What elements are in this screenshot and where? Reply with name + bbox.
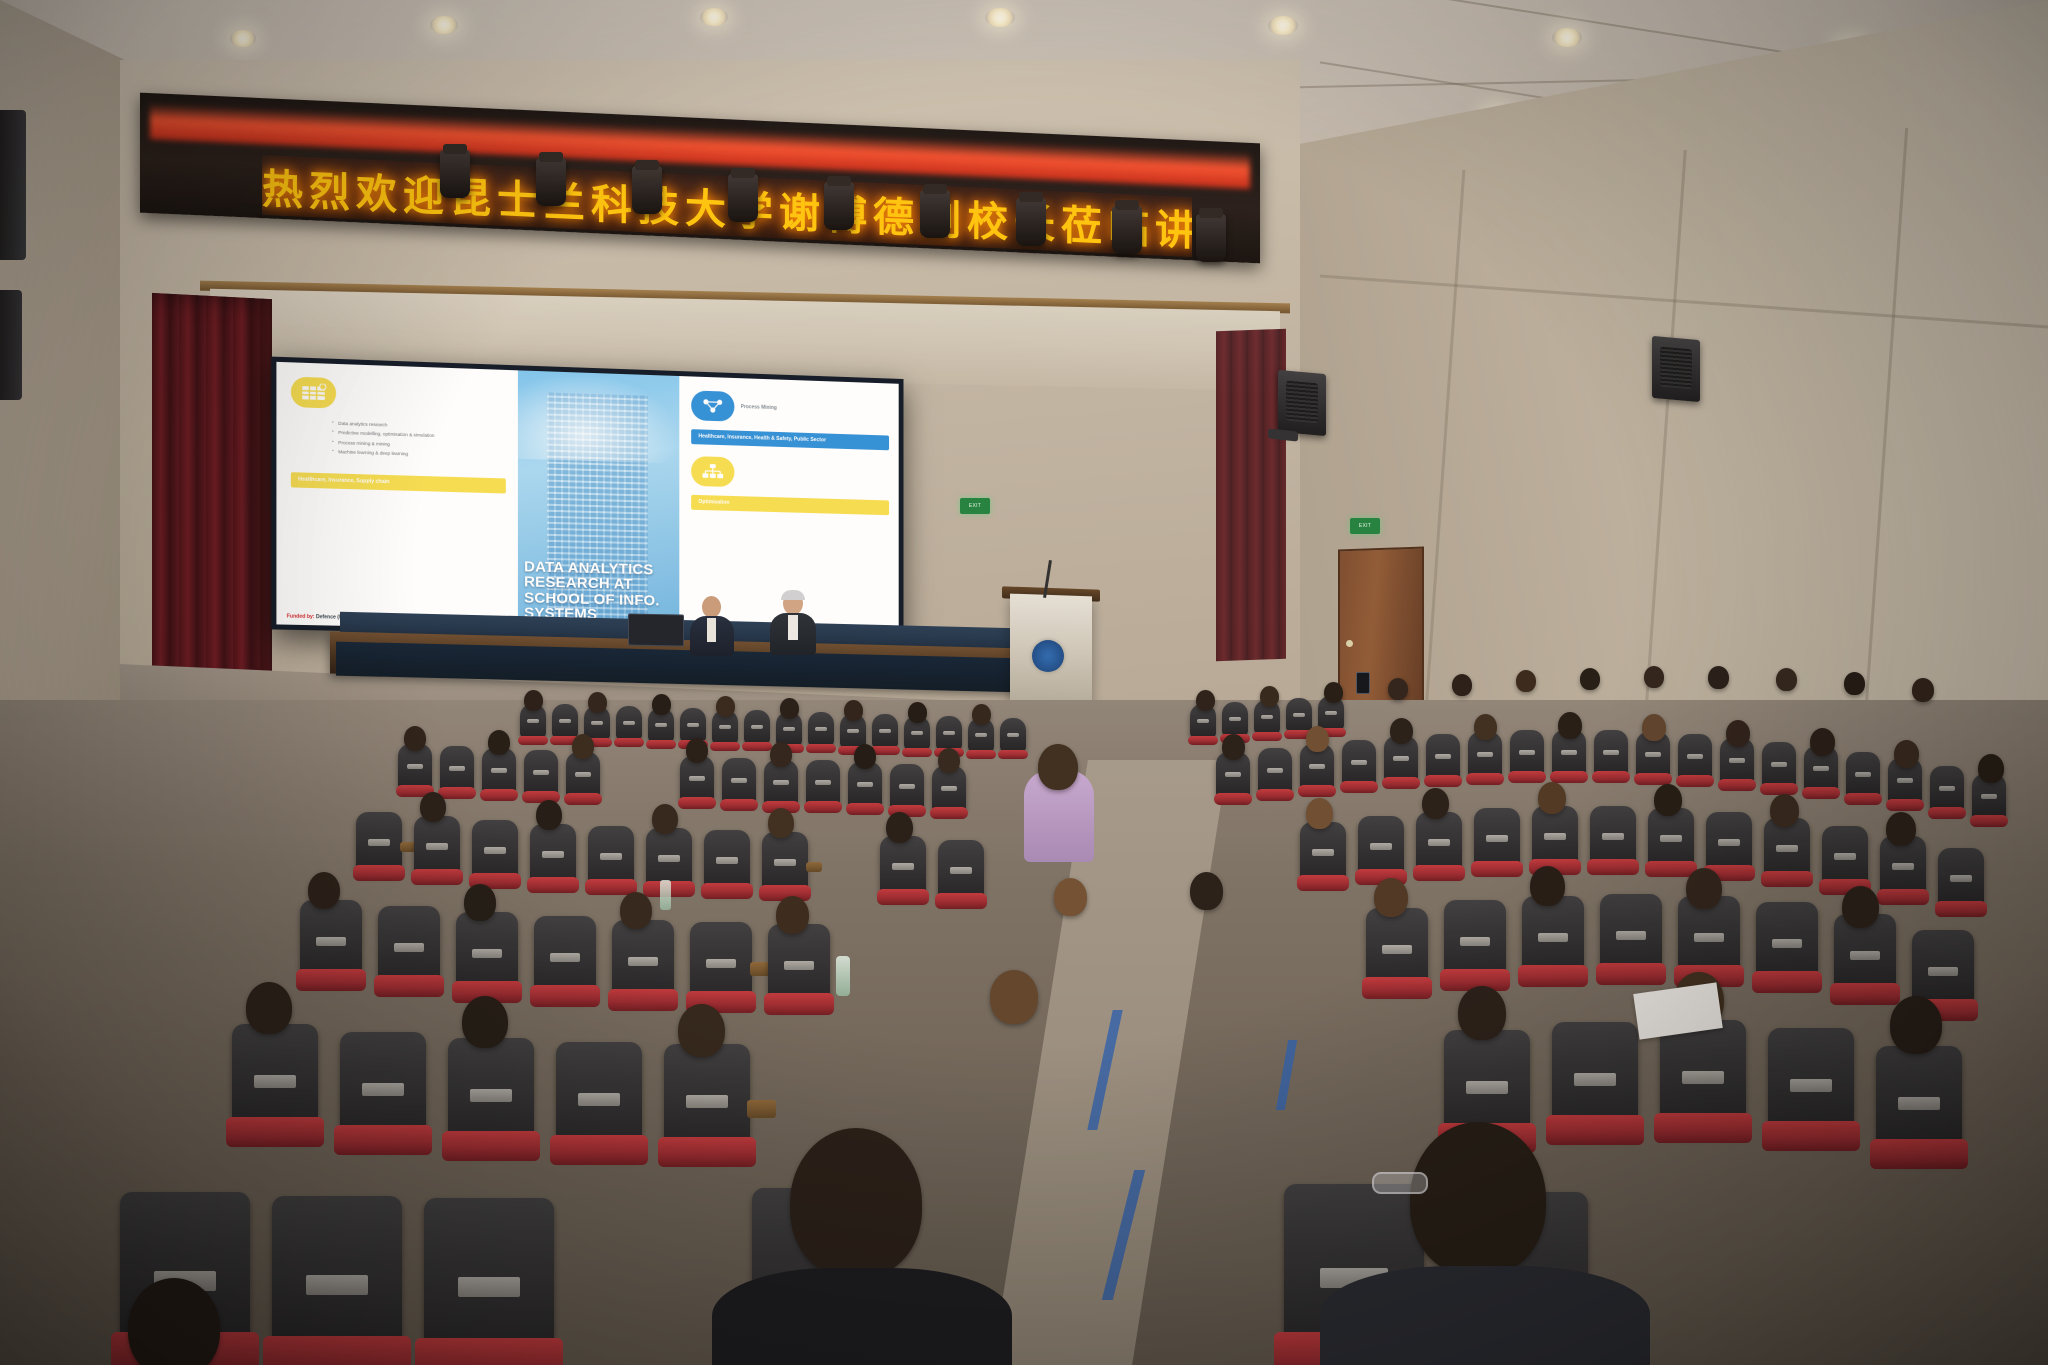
slide-left-panel: Data analytics research Predictive model… — [276, 362, 518, 630]
ceiling-downlight — [230, 30, 256, 47]
exit-sign-label: EXIT — [1350, 518, 1380, 534]
slide-footer-prefix: Funded by: — [287, 613, 315, 620]
auditorium-photo: 热烈欢迎昆士兰科技大学谢博德副校长莅临讲座！ — [0, 0, 2048, 1365]
presenter-hair — [781, 590, 805, 600]
slide-left-tag: Healthcare, Insurance, Supply chain — [291, 472, 506, 493]
stage-curtain-right — [1216, 329, 1286, 661]
slide-right-tag-mid: Optimisation — [691, 495, 889, 515]
presenter-head — [702, 596, 721, 618]
audience-head — [1038, 744, 1078, 790]
presenter-left — [690, 596, 734, 654]
spreadsheet-icon — [291, 377, 336, 409]
ceiling-downlight — [430, 16, 458, 34]
org-chart-icon — [691, 456, 734, 487]
eyeglasses — [1372, 1172, 1428, 1194]
presenter-shirt — [707, 618, 716, 642]
stage-spotlight — [1016, 198, 1046, 246]
water-bottle — [836, 956, 850, 996]
wall-speaker — [0, 290, 22, 400]
open-laptop — [628, 614, 684, 647]
ceiling-downlight — [700, 8, 728, 26]
slide-right-tag-top: Healthcare, Insurance, Health & Safety, … — [691, 429, 889, 450]
exit-sign: EXIT — [1350, 518, 1380, 534]
ceiling-downlight — [1552, 28, 1582, 47]
wall-speaker — [0, 110, 26, 260]
stage-spotlight — [1112, 206, 1142, 254]
slide-right-heading: Process Mining — [741, 404, 777, 411]
ceiling-downlight — [1268, 16, 1298, 35]
ceiling-downlight — [985, 8, 1015, 27]
water-bottle — [660, 880, 671, 910]
presenter-right — [770, 592, 816, 654]
wall-speaker — [1278, 370, 1326, 436]
stage-spotlight — [920, 190, 950, 238]
stage-spotlight — [728, 174, 758, 222]
stage-spotlight — [536, 158, 566, 206]
smartphone-raised — [1356, 672, 1370, 694]
slide-center-panel: DATA ANALYTICS RESEARCH AT SCHOOL OF INF… — [518, 370, 680, 632]
stage-spotlight — [440, 150, 470, 198]
exit-sign: EXIT — [960, 498, 990, 514]
wall-speaker — [1652, 336, 1700, 402]
presenter-shirt — [788, 615, 798, 640]
stage-spotlight — [824, 182, 854, 230]
slide-left-bullets: Data analytics research Predictive model… — [291, 417, 506, 462]
door-knob[interactable] — [1346, 640, 1353, 647]
network-nodes-icon — [691, 390, 734, 421]
exit-sign-label: EXIT — [960, 498, 990, 514]
university-crest — [1032, 640, 1064, 672]
stage-spotlight — [632, 166, 662, 214]
stage-spotlight — [1196, 214, 1226, 262]
